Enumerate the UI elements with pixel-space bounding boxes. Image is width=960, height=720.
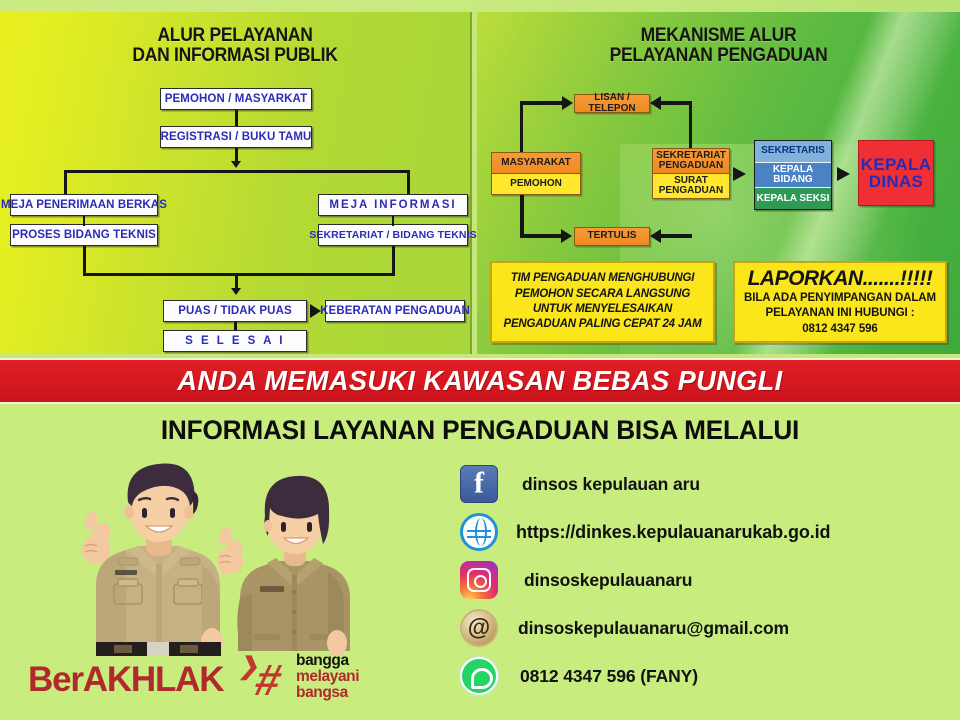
connector-line bbox=[392, 216, 394, 226]
pungli-banner-text: ANDA MEMASUKI KAWASAN BEBAS PUNGLI bbox=[177, 365, 782, 397]
arrow-left-icon bbox=[650, 229, 661, 243]
connector-line bbox=[520, 101, 564, 105]
connector-line bbox=[83, 216, 85, 226]
node-sekretaris: SEKRETARIS bbox=[755, 141, 831, 163]
connector-line bbox=[660, 101, 692, 105]
connector-line bbox=[660, 234, 692, 238]
left-panel-title: ALUR PELAYANAN DAN INFORMASI PUBLIK bbox=[19, 26, 451, 66]
node-proses-bidang-teknis: PROSES BIDANG TEKNIS bbox=[10, 224, 158, 246]
note-line: PEMOHON SECARA LANGSUNG bbox=[515, 287, 690, 302]
globe-icon[interactable] bbox=[460, 513, 498, 551]
left-flowchart-panel: ALUR PELAYANAN DAN INFORMASI PUBLIK PEMO… bbox=[0, 12, 472, 354]
contact-value-email: dinsoskepulauanaru@gmail.com bbox=[518, 618, 789, 639]
right-panel-title: MEKANISME ALUR PELAYANAN PENGADUAN bbox=[496, 26, 940, 66]
node-lisan-telepon: LISAN / TELEPON bbox=[574, 94, 650, 113]
contact-row-instagram[interactable]: dinsoskepulauanaru bbox=[460, 556, 960, 604]
tagline-line-1: bangga bbox=[296, 653, 359, 669]
note-phone: 0812 4347 596 bbox=[802, 322, 877, 338]
arrow-down-icon bbox=[231, 161, 241, 168]
arrow-right-icon bbox=[837, 167, 850, 181]
node-surat-pengaduan: SURAT PENGADUAN bbox=[652, 173, 730, 199]
note-line: PENGADUAN PALING CEPAT 24 JAM bbox=[503, 317, 701, 332]
node-sekretariat-pengaduan: SEKRETARIAT PENGADUAN bbox=[652, 148, 730, 174]
connector-line bbox=[64, 170, 410, 173]
connector-line bbox=[520, 234, 562, 238]
contact-value-facebook: dinsos kepulauan aru bbox=[522, 474, 700, 495]
email-at-icon[interactable] bbox=[460, 609, 498, 647]
connector-line bbox=[520, 102, 523, 154]
node-selesai: S E L E S A I bbox=[163, 330, 307, 352]
node-label: SEKRETARIAT PENGADUAN bbox=[653, 151, 729, 172]
right-flowchart-panel: MEKANISME ALUR PELAYANAN PENGADUAN LISAN… bbox=[477, 12, 960, 354]
arrow-right-icon bbox=[561, 229, 572, 243]
pungli-banner: ANDA MEMASUKI KAWASAN BEBAS PUNGLI bbox=[0, 358, 960, 404]
whatsapp-icon[interactable] bbox=[460, 657, 498, 695]
node-pemohon-masyarkat: PEMOHON / MASYARKAT bbox=[160, 88, 312, 110]
note-heading: LAPORKAN.......!!!!! bbox=[748, 267, 933, 291]
node-puas-tidak-puas: PUAS / TIDAK PUAS bbox=[163, 300, 307, 322]
berakhlak-logo: BerAKHLAK ❯ # bangga melayani bangsa bbox=[28, 650, 368, 706]
contact-value-website: https://dinkes.kepulauanarukab.go.id bbox=[516, 522, 830, 543]
contact-value-whatsapp: 0812 4347 596 (FANY) bbox=[520, 666, 698, 687]
tagline-line-2: melayani bbox=[296, 669, 359, 685]
connector-line bbox=[83, 273, 395, 276]
contact-row-facebook[interactable]: dinsos kepulauan aru bbox=[460, 460, 960, 508]
node-meja-informasi: MEJA INFORMASI bbox=[318, 194, 468, 216]
connector-line bbox=[407, 170, 410, 196]
arrow-right-icon bbox=[733, 167, 746, 181]
node-registrasi-buku-tamu: REGISTRASI / BUKU TAMU bbox=[160, 126, 312, 148]
contact-row-whatsapp[interactable]: 0812 4347 596 (FANY) bbox=[460, 652, 960, 700]
node-pemohon: PEMOHON bbox=[491, 173, 581, 195]
connector-line bbox=[64, 170, 67, 196]
node-meja-penerimaan-berkas: MEJA PENERIMAAN BERKAS bbox=[10, 194, 158, 216]
connector-line bbox=[83, 246, 86, 276]
connector-line bbox=[235, 148, 238, 162]
contact-row-website[interactable]: https://dinkes.kepulauanarukab.go.id bbox=[460, 508, 960, 556]
connector-line bbox=[235, 110, 238, 126]
connector-line bbox=[520, 195, 524, 238]
berakhlak-tagline: bangga melayani bangsa bbox=[296, 653, 359, 700]
note-laporkan: LAPORKAN.......!!!!! BILA ADA PENYIMPANG… bbox=[733, 261, 947, 343]
note-tim-pengaduan: TIM PENGADUAN MENGHUBUNGI PEMOHON SECARA… bbox=[490, 261, 715, 343]
flowchart-panels: ALUR PELAYANAN DAN INFORMASI PUBLIK PEMO… bbox=[0, 12, 960, 354]
berakhlak-wordmark: BerAKHLAK bbox=[28, 660, 223, 700]
connector-line bbox=[392, 246, 395, 276]
note-line: UNTUK MENYELESAIKAN bbox=[533, 302, 672, 317]
arrow-right-icon bbox=[562, 96, 573, 110]
top-accent-strip bbox=[0, 0, 960, 12]
note-line: BILA ADA PENYIMPANGAN DALAM bbox=[744, 291, 936, 307]
node-kepala-dinas: KEPALA DINAS bbox=[858, 140, 934, 206]
contact-value-instagram: dinsoskepulauanaru bbox=[524, 570, 692, 591]
arrow-left-icon bbox=[650, 96, 661, 110]
contact-list: dinsos kepulauan aru https://dinkes.kepu… bbox=[460, 460, 960, 700]
node-keberatan-pengaduan: KEBERATAN PENGADUAN bbox=[325, 300, 465, 322]
node-sekretariat-bidang-teknis: SEKRETARIAT / BIDANG TEKNIS bbox=[318, 224, 468, 246]
node-tertulis: TERTULIS bbox=[574, 227, 650, 246]
node-pimpinan-stack: SEKRETARIS KEPALA BIDANG KEPALA SEKSI bbox=[754, 140, 832, 210]
contact-section-title: INFORMASI LAYANAN PENGADUAN BISA MELALUI bbox=[14, 415, 945, 446]
node-masyarakat: MASYARAKAT bbox=[491, 152, 581, 174]
facebook-icon[interactable] bbox=[460, 465, 498, 503]
note-line: PELAYANAN INI HUBUNGI : bbox=[766, 306, 915, 322]
arrow-down-icon bbox=[231, 288, 241, 295]
contact-row-email[interactable]: dinsoskepulauanaru@gmail.com bbox=[460, 604, 960, 652]
note-line: TIM PENGADUAN MENGHUBUNGI bbox=[511, 271, 694, 286]
instagram-icon[interactable] bbox=[460, 561, 498, 599]
asn-characters-illustration bbox=[62, 446, 362, 661]
contact-section: INFORMASI LAYANAN PENGADUAN BISA MELALUI bbox=[0, 404, 960, 720]
node-kepala-bidang: KEPALA BIDANG bbox=[755, 163, 831, 188]
tagline-line-3: bangsa bbox=[296, 685, 359, 701]
asn-characters-svg bbox=[62, 446, 362, 661]
node-kepala-seksi: KEPALA SEKSI bbox=[755, 188, 831, 210]
